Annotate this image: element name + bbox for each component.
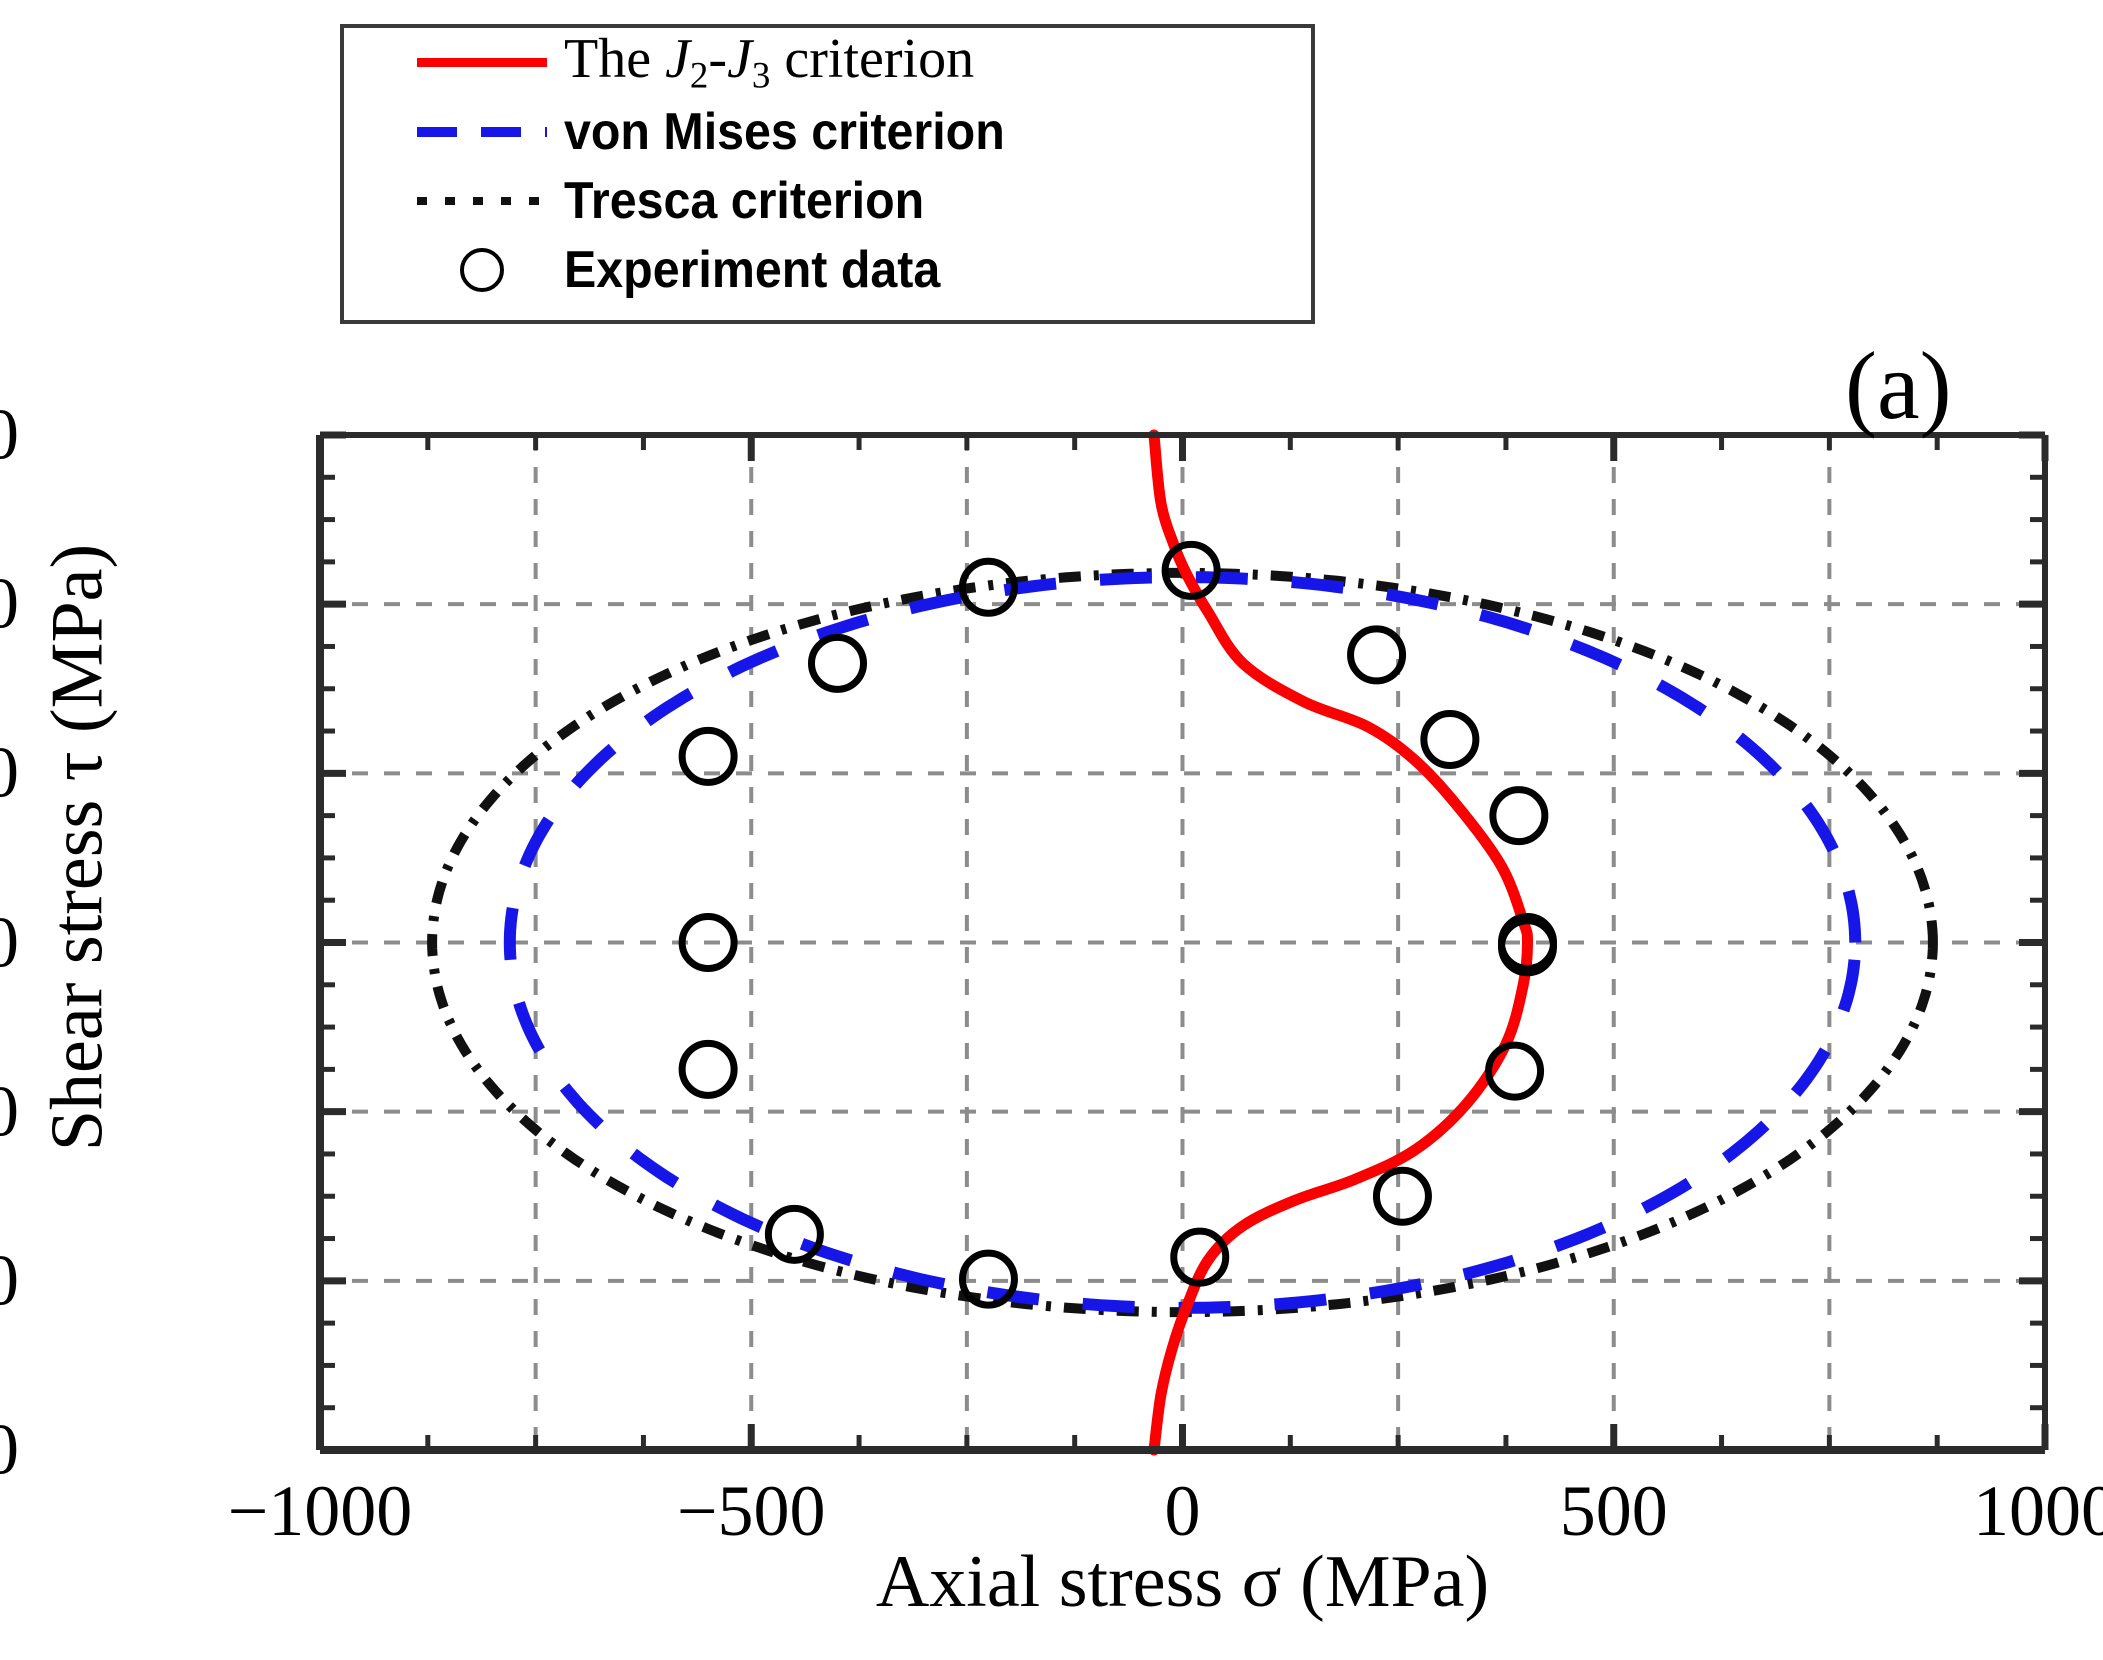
legend-label-j2j3: The J2-J3 criterion [564,31,974,94]
y-axis-title: Shear stress τ (MPa) [36,378,121,1318]
dash-dot-black-line-icon [399,197,564,205]
experiment-data-point [1376,1170,1428,1222]
legend-label-tresca: Tresca criterion [564,175,924,227]
y-axis-tick-label: −200 [0,1070,19,1153]
experiment-data-point [812,637,864,689]
panel-label: (a) [1845,330,1952,441]
y-axis-tick-label: 200 [0,732,19,815]
y-axis-tick-label: −400 [0,1239,19,1322]
experiment-data-point [682,1043,734,1095]
y-axis-tick-label: 400 [0,563,19,646]
x-axis-title: Axial stress σ (MPa) [320,1540,2045,1625]
experiment-data-point [768,1208,820,1260]
legend-item-j2j3: The J2-J3 criterion [344,28,1311,97]
dashed-blue-line-icon [399,127,564,137]
legend-label-von-mises: von Mises criterion [564,106,1005,158]
legend-item-experiment: Experiment data [344,235,1311,304]
solid-red-line-icon [399,58,564,67]
open-circle-marker-icon [399,248,564,292]
experiment-data-point [1351,629,1403,681]
legend-item-von-mises: von Mises criterion [344,97,1311,166]
experiment-data-point [1424,714,1476,766]
legend-item-tresca: Tresca criterion [344,166,1311,235]
y-axis-tick-label: 0 [0,901,19,984]
chart-legend: The J2-J3 criterion von Mises criterion … [340,24,1315,324]
y-axis-tick-label: 600 [0,394,19,477]
legend-label-experiment: Experiment data [564,244,940,296]
figure-root: The J2-J3 criterion von Mises criterion … [0,0,2103,1660]
experiment-data-point [1493,790,1545,842]
y-axis-tick-label: −600 [0,1409,19,1492]
